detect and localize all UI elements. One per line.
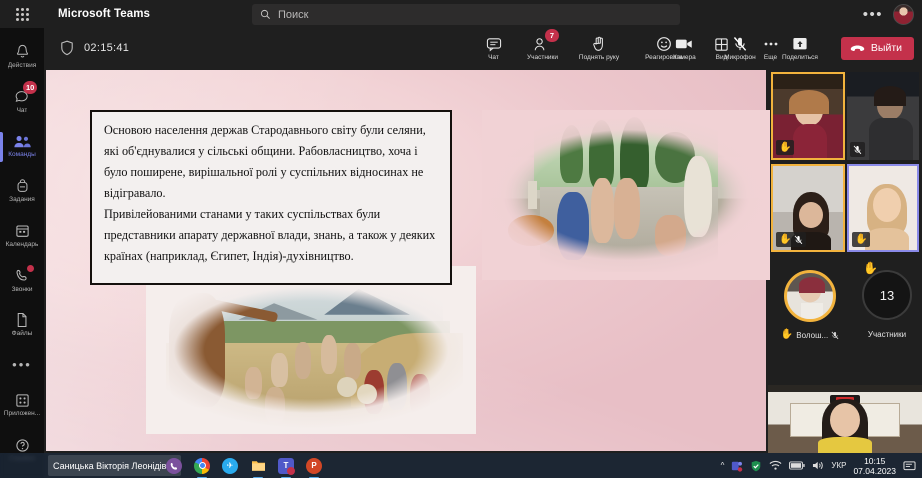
- tile-status-controls: ✋: [776, 232, 806, 247]
- backpack-icon: [15, 177, 30, 195]
- tile-status-controls: ✋: [776, 140, 794, 155]
- shield-tray-icon[interactable]: [750, 460, 762, 472]
- taskbar-chrome-icon[interactable]: [194, 455, 210, 476]
- taskbar-teams-icon[interactable]: T: [278, 455, 294, 476]
- participant-tile[interactable]: ✋: [847, 164, 919, 252]
- participant-tile[interactable]: ✋: [771, 72, 845, 160]
- sidebar-item-activity[interactable]: Действия: [0, 34, 44, 79]
- overflow-participants-button[interactable]: 13: [862, 270, 912, 320]
- taskbar-active-window[interactable]: Саницька Вікторія Леонідівна: [48, 455, 181, 476]
- taskbar-window-title: Саницька Вікторія Леонідівна: [53, 461, 176, 471]
- calendar-icon: [15, 222, 30, 240]
- sidebar-item-label: Действия: [8, 62, 36, 70]
- raised-hand-icon: ✋: [781, 330, 793, 340]
- raised-hand-icon: ✋: [779, 235, 791, 245]
- tray-chevron-icon[interactable]: ^: [721, 461, 725, 470]
- people-count-badge: 7: [545, 29, 559, 42]
- app-title: Microsoft Teams: [58, 8, 150, 20]
- taskbar-explorer-icon[interactable]: [250, 455, 266, 476]
- language-indicator[interactable]: УКР: [831, 461, 846, 470]
- user-avatar[interactable]: [893, 4, 914, 25]
- meeting-people-label: Участники: [527, 54, 558, 61]
- sidebar-item-label: Задания: [9, 196, 35, 204]
- meeting-chat-button[interactable]: Чат: [469, 28, 518, 68]
- mic-off-icon: [853, 145, 862, 155]
- powerpoint-glyph: P: [306, 458, 322, 474]
- mic-off-icon: [831, 331, 839, 340]
- leave-meeting-label: Выйти: [871, 42, 902, 54]
- left-rail: Действия 10 Чат Команды Задания: [0, 28, 44, 478]
- telegram-glyph: ✈: [222, 458, 238, 474]
- roman-slaves-scene-image: [482, 110, 770, 280]
- clock-date: 07.04.2023: [853, 466, 896, 476]
- participant-name: Волош...: [796, 331, 828, 340]
- volume-icon[interactable]: [812, 460, 824, 471]
- windows-taskbar: Саницька Вікторія Леонідівна ✈ T: [0, 453, 922, 478]
- share-label: Поделиться: [782, 54, 818, 61]
- mic-off-icon: [794, 235, 803, 245]
- raised-hand-icon: [592, 36, 606, 53]
- search-icon: [260, 9, 271, 20]
- slide-paragraph-1: Основою населення держав Стародавнього с…: [104, 120, 440, 204]
- chat-bubble-icon: [486, 36, 502, 53]
- teams-tray-icon[interactable]: [731, 460, 743, 472]
- slide-paragraph-2: Привілейованими станами у таких суспільс…: [104, 204, 440, 267]
- battery-icon[interactable]: [789, 461, 805, 470]
- mic-toggle-button[interactable]: Микрофон: [713, 28, 767, 68]
- ancient-battle-scene-image: [146, 266, 476, 434]
- presentation-slide: Основою населення держав Стародавнього с…: [46, 70, 766, 451]
- sidebar-item-label: Команды: [8, 151, 36, 159]
- sidebar-item-calendar[interactable]: Календарь: [0, 213, 44, 258]
- title-bar: Microsoft Teams Поиск •••: [0, 0, 922, 28]
- system-tray: ^ УКР 10:15 07.04.2023: [721, 453, 916, 478]
- chat-unread-badge: 10: [23, 81, 37, 94]
- sidebar-item-chat[interactable]: 10 Чат: [0, 79, 44, 124]
- meeting-media-controls: Камера Микрофон Поделиться Выйти: [660, 28, 914, 68]
- people-icon: [13, 132, 32, 150]
- sidebar-item-apps[interactable]: Приложен...: [0, 382, 44, 427]
- search-bar[interactable]: Поиск: [252, 4, 680, 25]
- calls-status-dot: [27, 265, 34, 272]
- sidebar-item-label: Звонки: [12, 286, 33, 294]
- raised-hand-icon: ✋: [863, 262, 878, 274]
- sidebar-item-assignments[interactable]: Задания: [0, 168, 44, 213]
- bell-icon: [15, 43, 30, 61]
- leave-meeting-button[interactable]: Выйти: [841, 37, 914, 60]
- sidebar-item-files[interactable]: Файлы: [0, 303, 44, 348]
- network-icon[interactable]: [769, 460, 782, 471]
- settings-ellipsis-button[interactable]: •••: [855, 7, 891, 22]
- participant-avatar-row: ✋ Волош...: [774, 330, 846, 340]
- share-up-icon: [792, 36, 808, 53]
- sidebar-item-label: Файлы: [12, 330, 33, 338]
- mic-off-icon: [732, 36, 748, 53]
- app-launcher-icon[interactable]: [0, 0, 44, 28]
- camera-toggle-button[interactable]: Камера: [660, 28, 709, 68]
- tile-status-controls: ✋: [852, 232, 870, 247]
- participant-tile[interactable]: ✋: [771, 164, 845, 252]
- self-video-tile[interactable]: [768, 385, 922, 453]
- sidebar-item-label: Календарь: [6, 241, 39, 249]
- taskbar-powerpoint-icon[interactable]: P: [306, 455, 322, 476]
- share-button[interactable]: Поделиться: [771, 28, 829, 68]
- clock-time: 10:15: [864, 456, 885, 466]
- tile-status-controls: [850, 142, 865, 157]
- notifications-icon[interactable]: [903, 460, 916, 472]
- participants-video-panel: ✋ ✋: [768, 68, 922, 453]
- search-input[interactable]: Поиск: [278, 9, 308, 21]
- teams-dnd-badge: [287, 467, 295, 475]
- sidebar-item-label: Приложен...: [4, 410, 40, 418]
- sidebar-more-button[interactable]: •••: [12, 347, 32, 382]
- raised-hand-icon: ✋: [855, 235, 867, 245]
- shared-content-stage: Основою населення держав Стародавнього с…: [44, 68, 768, 453]
- meeting-raisehand-label: Поднять руку: [579, 54, 619, 61]
- taskbar-telegram-icon[interactable]: ✈: [222, 455, 238, 476]
- hangup-icon: [850, 44, 865, 53]
- overflow-participants-label: Участники: [862, 330, 912, 339]
- title-bar-right: •••: [855, 0, 918, 28]
- sidebar-item-teams[interactable]: Команды: [0, 124, 44, 169]
- raised-hand-icon: ✋: [779, 143, 791, 153]
- participant-tile[interactable]: [847, 72, 919, 160]
- meeting-timer: 02:15:41: [84, 42, 129, 54]
- camera-label: Камера: [673, 54, 696, 61]
- overflow-count: 13: [880, 288, 894, 303]
- mic-label: Микрофон: [724, 54, 756, 61]
- slide-text-box: Основою населення держав Стародавнього с…: [90, 110, 452, 285]
- teams-window: Microsoft Teams Поиск ••• Действия 10: [0, 0, 922, 478]
- taskbar-viber-icon[interactable]: [166, 455, 182, 476]
- camera-icon: [675, 36, 693, 53]
- meeting-toolbar: 02:15:41 Чат 7 Участники Поднять руку: [44, 28, 922, 68]
- meeting-raisehand-button[interactable]: Поднять руку: [567, 28, 631, 68]
- question-circle-icon: [15, 436, 30, 454]
- meeting-people-button[interactable]: 7 Участники: [518, 28, 567, 68]
- meeting-chat-label: Чат: [488, 54, 499, 61]
- participant-avatar[interactable]: [784, 270, 836, 322]
- shield-icon: [60, 40, 74, 56]
- sidebar-item-label: Чат: [17, 107, 28, 115]
- taskbar-clock[interactable]: 10:15 07.04.2023: [853, 456, 896, 476]
- sidebar-item-calls[interactable]: Звонки: [0, 258, 44, 303]
- file-icon: [15, 311, 29, 329]
- apps-grid-icon: [15, 391, 30, 409]
